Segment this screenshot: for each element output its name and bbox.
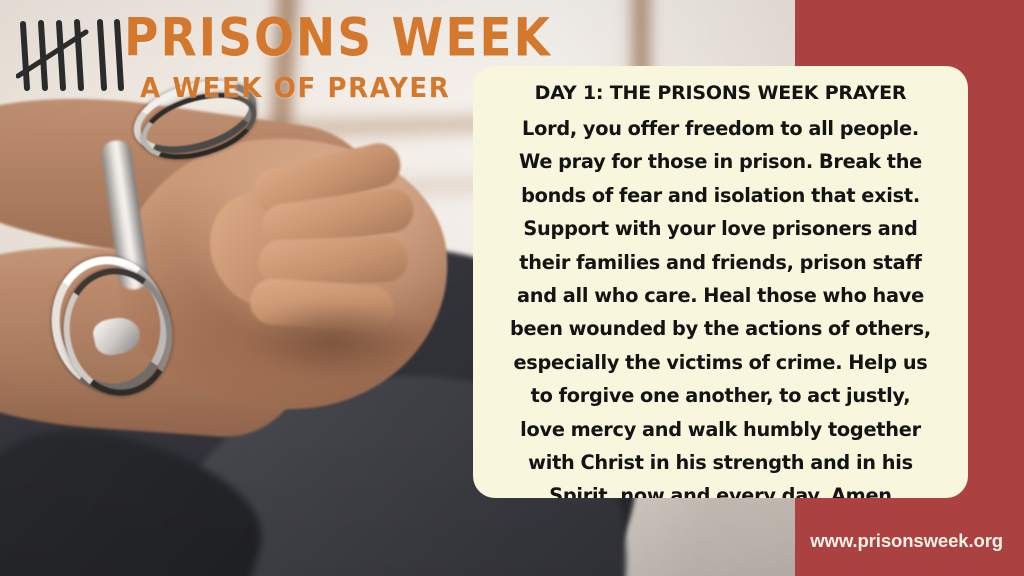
logo-wordmark: PRISONS WEEK A WEEK OF PRAYER [124,12,524,102]
prayer-card-body: Lord, you offer freedom to all people.We… [491,112,950,498]
prisons-week-logo: PRISONS WEEK A WEEK OF PRAYER [16,12,516,106]
tally-marks-seven-icon [16,18,126,94]
prisons-week-poster: www.prisonsweek.org PRISONS WEEK A WEEK … [0,0,1024,576]
prayer-card: DAY 1: THE PRISONS WEEK PRAYER Lord, you… [473,66,968,498]
logo-subtitle: A WEEK OF PRAYER [140,74,524,103]
website-url[interactable]: www.prisonsweek.org [810,530,1003,552]
logo-title: PRISONS WEEK [124,12,524,66]
prayer-card-title: DAY 1: THE PRISONS WEEK PRAYER [491,82,950,104]
hand-shadow [238,300,428,380]
